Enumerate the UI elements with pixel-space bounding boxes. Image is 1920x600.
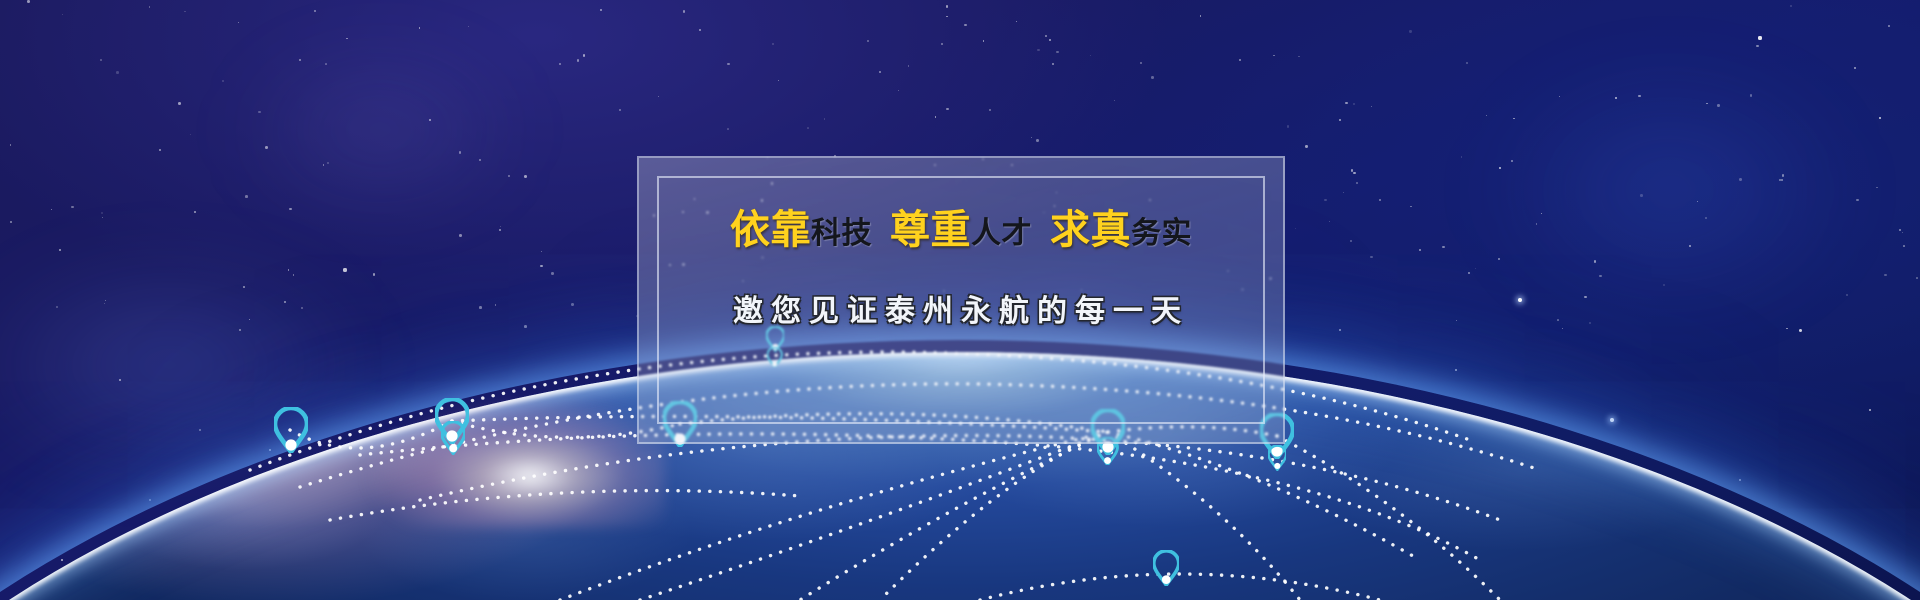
star [1455,369,1457,371]
star-dust [1846,294,1848,296]
star-dust [1589,322,1592,325]
star-dust [289,208,291,210]
star-dust [727,63,730,66]
star-dust [245,195,248,198]
star-dust [1343,192,1344,193]
star [479,159,481,161]
star [199,429,201,431]
star [1239,59,1241,61]
star-dust [301,307,304,310]
star-dust [62,14,63,15]
star-dust [1442,246,1445,249]
map-pin-icon [274,407,308,453]
star-dust [727,128,729,130]
star-dust [284,301,286,303]
star-dust [1888,25,1890,27]
star-dust [1599,275,1602,278]
star-dust [1786,328,1788,330]
star [159,149,161,151]
star-dust [1345,102,1348,105]
star-dust [101,212,103,214]
star-dust [1594,260,1597,263]
star-dust [1884,274,1887,277]
star-dust [964,24,967,27]
slogan-headline: 依靠科技尊重人才求真务实 [639,210,1283,250]
star-dust [1486,115,1487,116]
star [429,119,432,122]
star-dust [1717,104,1720,107]
star-dust [1640,194,1643,197]
star-dust [71,206,73,208]
star-dust [1356,182,1358,184]
star-dust [524,325,527,328]
star-dust [1557,319,1559,321]
star-dust [327,162,329,164]
star-dust [1090,55,1091,56]
star-dust [1353,103,1355,105]
star-dust [1324,199,1326,201]
headline-seg-dark: 务实 [1131,217,1192,250]
star-dust [479,306,482,309]
star-dust [1750,94,1752,96]
star-dust [222,80,224,82]
star-dust [1305,145,1307,147]
star-dust [1466,62,1468,64]
star-dust [100,59,102,61]
star-dust [1140,62,1142,64]
star-dust [346,38,347,39]
star-dust [583,54,586,57]
connection-arc [640,432,1108,600]
star-dust [27,0,30,3]
star-dust [1536,223,1537,224]
connection-arc [330,491,800,520]
connection-arc [560,432,1108,600]
star-dust [314,10,316,12]
nebula-wisp-right [1480,60,1860,320]
star-dust [373,273,376,276]
star-dust [102,217,103,218]
star [269,449,272,452]
star-dust [1782,174,1785,177]
star-dust [1790,5,1792,7]
star-dust [1037,49,1039,51]
star-dust [1902,232,1903,233]
star [1339,119,1341,121]
star-dust [149,6,151,8]
star-dust [1697,201,1699,203]
star-dust [1016,21,1017,22]
star [1615,97,1617,99]
star-dust [1513,118,1515,120]
star [1879,117,1882,120]
star-dust [941,43,943,45]
star-dust [56,306,58,308]
star-dust [1739,178,1742,181]
star-dust [1114,100,1116,102]
star-dust [1456,320,1457,321]
connection-arc [880,432,1108,600]
slogan-block: 依靠科技尊重人才求真务实 邀您见证泰州永航的每一天 [639,210,1283,330]
headline-seg-dark: 人才 [971,217,1032,250]
star-dust [1541,213,1542,214]
star-dust [10,144,12,146]
star-dust [571,303,574,306]
connection-arc [800,432,1108,600]
nebula-wisp-left [0,250,380,480]
star-dust [1461,156,1463,158]
star [1779,179,1781,181]
star-dust [541,251,542,252]
star-dust [1295,228,1296,229]
star [119,379,121,381]
map-pin-icon [441,421,465,454]
star-dust [946,5,948,7]
star-dust [238,22,239,23]
star [1689,245,1691,247]
map-pin-icon [1153,550,1180,586]
star-dust [249,319,250,320]
slogan-panel: 依靠科技尊重人才求真务实 邀您见证泰州永航的每一天 [637,156,1285,444]
connection-arc [420,436,1500,520]
star-dust [778,80,779,81]
star-dust [1498,258,1500,260]
star-dust [258,111,260,113]
map-pin-icon [1268,445,1287,470]
star-dust [1781,179,1783,181]
connection-arc [1108,432,1420,560]
slogan-subline: 邀您见证泰州永航的每一天 [639,286,1283,330]
star [1049,39,1052,42]
star-dust [1856,199,1858,201]
star-dust [935,116,936,117]
star-dust [468,26,469,27]
star-dust [867,40,869,42]
star-dust [459,234,462,237]
star-dust [1756,45,1758,47]
star-dust [1409,30,1411,32]
star-dust [1200,15,1202,17]
headline-seg-gold: 依靠 [730,207,811,252]
connection-arc [980,574,1380,600]
star [1869,409,1872,412]
star-dust [1468,272,1470,274]
star [879,71,881,73]
star-dust [1706,103,1708,105]
star-dust [265,146,268,149]
star [59,249,62,252]
star [1839,559,1841,561]
star-dust [104,303,105,304]
star-dust [908,65,910,67]
star [1518,298,1522,302]
nebula-wisp-top [230,40,530,220]
star-dust [1559,96,1560,97]
star-dust [288,269,289,270]
star-dust [551,272,554,275]
star [343,268,346,271]
star-dust [178,102,181,105]
star-dust [419,27,421,29]
star-dust [1351,169,1353,171]
star-dust [1273,55,1274,56]
star-dust [1638,95,1640,97]
connection-arc [1108,432,1300,600]
star-dust [105,300,106,301]
star-dust [243,286,245,288]
star-dust [51,209,52,210]
star [364,499,366,501]
star [619,109,621,111]
star [1799,329,1802,332]
connection-arc [290,421,452,448]
star-dust [293,274,295,276]
connection-arc [1277,436,1500,600]
star [61,559,64,562]
star-dust [508,175,510,177]
star [499,229,501,231]
star-dust [190,134,191,135]
star-dust [1903,245,1905,247]
star [1419,249,1421,251]
star [299,59,301,61]
star-dust [1511,160,1513,162]
star [239,329,241,331]
star-dust [946,16,948,18]
star [1499,167,1502,170]
star-dust [772,43,774,45]
star-dust [1298,56,1299,57]
connection-arc [360,434,1480,560]
star-dust [1705,217,1707,219]
star-dust [898,90,899,91]
star [1469,469,1471,471]
star [699,29,701,31]
star [989,109,991,111]
star-dust [1031,137,1032,138]
star [1379,199,1381,201]
star-dust [1475,268,1476,269]
star-dust [1876,187,1878,189]
star-dust [1350,240,1352,242]
star [1339,329,1341,331]
star-dust [1045,35,1047,37]
star-dust [1287,125,1290,128]
star-dust [1663,284,1665,286]
star-dust [683,10,685,12]
star-dust [600,9,602,11]
star-dust [325,63,327,65]
star-dust [1584,296,1587,299]
star-dust [824,118,825,119]
star-dust [1052,63,1053,64]
star-dust [1151,76,1154,79]
star [1758,36,1761,39]
star-dust [116,71,119,74]
star-dust [10,221,11,222]
star-dust [1854,67,1856,69]
star [1899,229,1901,231]
star [1559,519,1562,522]
star [559,63,561,65]
star-dust [459,151,462,154]
star-dust [540,265,542,267]
star-dust [1329,221,1330,222]
star [393,433,398,438]
map-pin-icon [435,398,469,444]
star [1739,479,1741,481]
headline-seg-gold: 求真 [1050,207,1131,252]
sunrise-flare [365,398,665,528]
star-dust [1056,51,1059,54]
star-dust [1353,172,1355,174]
star [1659,559,1661,561]
star-dust [500,226,501,227]
star-dust [1370,256,1372,258]
headline-seg-gold: 尊重 [890,207,971,252]
star [149,499,151,501]
star-dust [323,164,325,166]
star-dust [983,40,985,42]
star [1610,418,1615,423]
star-dust [807,127,809,129]
star-dust [946,108,948,110]
star-dust [1562,328,1563,329]
headline-seg-dark: 科技 [811,217,872,250]
star-dust [184,11,185,12]
star-dust [658,96,659,97]
star-dust [495,304,497,306]
star-dust [1036,139,1039,142]
star-dust [1916,277,1918,279]
promo-banner: 依靠科技尊重人才求真务实 邀您见证泰州永航的每一天 [0,0,1920,600]
star-dust [194,211,196,213]
star-dust [1410,206,1411,207]
star-dust [577,59,579,61]
star-dust [524,175,527,178]
star-dust [1371,106,1372,107]
